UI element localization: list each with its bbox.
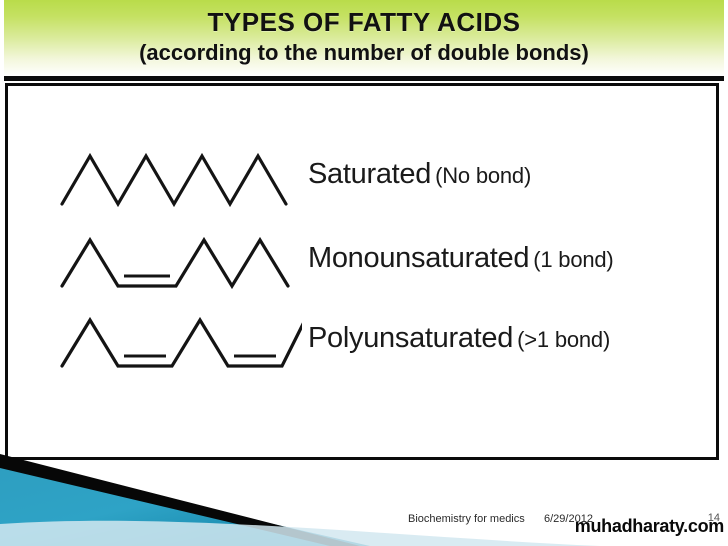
fatty-acid-bond-count: (1 bond) <box>533 247 613 272</box>
fatty-acid-bond-count: (>1 bond) <box>517 327 610 352</box>
fatty-acid-label: Polyunsaturated(>1 bond) <box>308 322 610 355</box>
fatty-acid-label: Saturated(No bond) <box>308 158 531 191</box>
header-title-block: TYPES OF FATTY ACIDS (according to the n… <box>4 0 724 68</box>
fatty-acid-bond-count: (No bond) <box>435 163 531 188</box>
fatty-acid-label: Monounsaturated(1 bond) <box>308 242 614 275</box>
footer-credit-text: Biochemistry for medics <box>408 513 525 525</box>
zigzag-chain-two-cis-double-bonds-icon <box>52 308 302 378</box>
fatty-acid-name: Saturated <box>308 158 431 190</box>
page-title: TYPES OF FATTY ACIDS <box>4 0 724 38</box>
fatty-acid-row: Monounsaturated(1 bond) <box>8 228 716 320</box>
fatty-acid-row: Polyunsaturated(>1 bond) <box>8 308 716 400</box>
zigzag-chain-one-cis-double-bond-icon <box>52 228 302 298</box>
header-divider-rule <box>4 76 724 81</box>
page-subtitle: (according to the number of double bonds… <box>4 38 724 68</box>
fatty-acid-name: Polyunsaturated <box>308 322 513 354</box>
slide-canvas: TYPES OF FATTY ACIDS (according to the n… <box>0 0 728 546</box>
fatty-acid-row: Saturated(No bond) <box>8 144 716 236</box>
zigzag-chain-saturated-icon <box>52 144 302 214</box>
header-banner: TYPES OF FATTY ACIDS (according to the n… <box>4 0 724 76</box>
content-box: Saturated(No bond) Monounsaturated(1 bon… <box>5 83 719 460</box>
slide-footer: Biochemistry for medics 6/29/2012 14 muh… <box>0 510 728 536</box>
fatty-acid-name: Monounsaturated <box>308 242 529 274</box>
watermark-text: muhadharaty.com <box>575 516 724 537</box>
